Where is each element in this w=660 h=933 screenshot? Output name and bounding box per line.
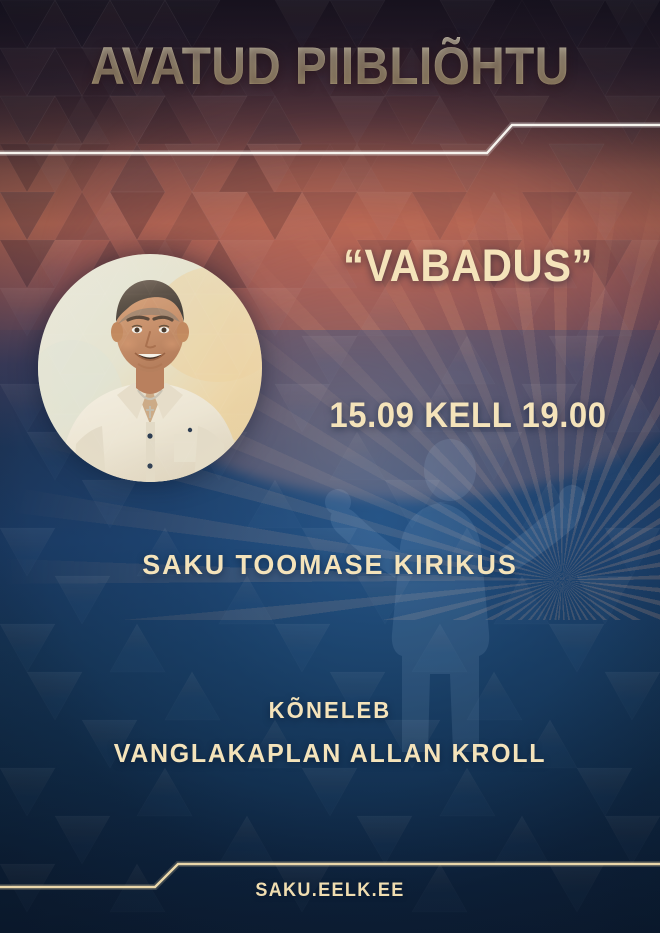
event-venue: SAKU TOOMASE KIRIKUS [13, 549, 647, 581]
website-url[interactable]: SAKU.EELK.EE [17, 880, 644, 902]
theme-title: “VABADUS” [289, 240, 646, 292]
speaker-label: KÕNELEB [13, 697, 647, 724]
page-title: AVATUD PIIBLIÕHTU [33, 36, 627, 97]
speaker-name: VANGLAKAPLAN ALLAN KROLL [13, 738, 647, 769]
event-poster: AVATUD PIIBLIÕHTU “VABADUS” 15.09 KELL 1… [0, 0, 660, 933]
event-datetime: 15.09 KELL 19.00 [288, 396, 649, 436]
portrait-edge-fade [38, 254, 262, 482]
speaker-portrait [38, 254, 262, 482]
